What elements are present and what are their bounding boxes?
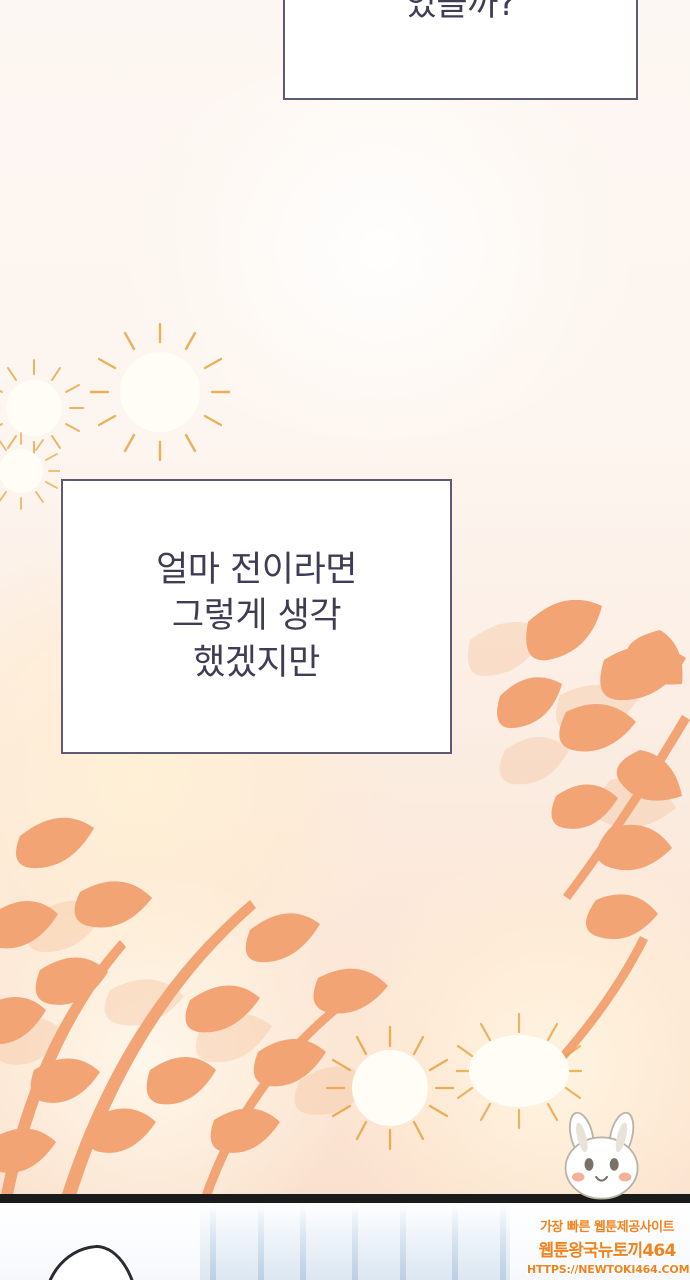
sparkle-burst-icon	[0, 432, 60, 510]
dialogue-text-main: 얼마 전이라면 그렇게 생각 했겠지만	[156, 547, 357, 686]
panel-divider	[0, 1194, 690, 1203]
dialogue-bubble-top: 있을까?	[283, 0, 638, 100]
sparkle-burst-icon	[456, 1012, 582, 1130]
dialogue-text-top: 있을까?	[406, 0, 516, 26]
warm-glow-top	[120, 60, 640, 440]
warm-glow-bottom	[0, 880, 360, 1240]
sparkle-burst-icon	[326, 1024, 454, 1152]
sparkle-burst-icon	[90, 322, 230, 462]
comic-page: 있을까? 얼마 전이라면 그렇게 생각 했겠지만	[0, 0, 690, 1280]
sparkle-burst-icon	[0, 358, 84, 458]
dialogue-bubble-main: 얼마 전이라면 그렇게 생각 했겠지만	[61, 479, 452, 754]
